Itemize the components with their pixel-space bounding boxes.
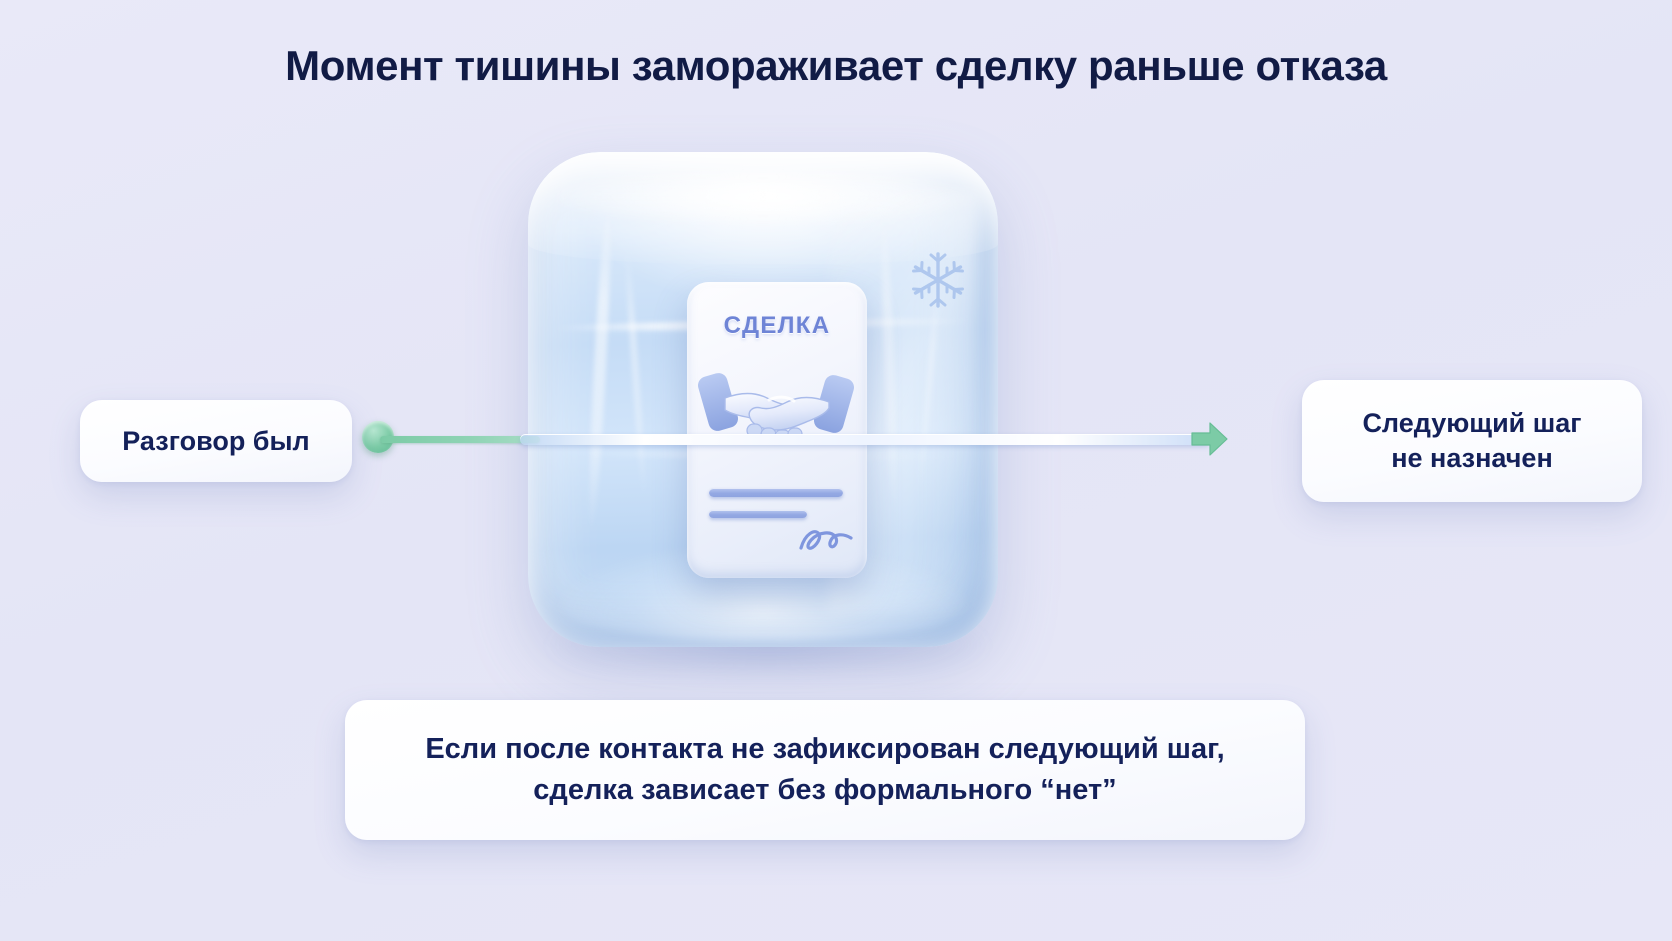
deal-document-icon: СДЕЛКА bbox=[687, 282, 867, 578]
document-text-line bbox=[709, 510, 807, 518]
frozen-line-icon bbox=[520, 434, 1210, 445]
handshake-icon bbox=[697, 348, 857, 468]
right-state-label-line2: не назначен bbox=[1362, 441, 1581, 476]
deal-document-heading: СДЕЛКА bbox=[687, 312, 867, 340]
caption-line1: Если после контакта не зафиксирован след… bbox=[373, 729, 1277, 770]
ice-fracture bbox=[623, 248, 647, 498]
page-title: Момент тишины замораживает сделку раньше… bbox=[0, 42, 1672, 90]
document-text-line bbox=[709, 488, 843, 497]
left-state-card[interactable]: Разговор был bbox=[80, 400, 352, 482]
right-state-label-line1: Следующий шаг bbox=[1362, 406, 1581, 441]
infographic-canvas: Момент тишины замораживает сделку раньше… bbox=[0, 0, 1672, 941]
caption-line2: сделка зависает без формального “нет” bbox=[373, 770, 1277, 811]
signature-icon bbox=[795, 518, 857, 562]
right-state-card[interactable]: Следующий шаг не назначен bbox=[1302, 380, 1642, 502]
snowflake-icon bbox=[906, 248, 970, 312]
flow-connector bbox=[380, 433, 1200, 445]
arrow-right-icon bbox=[1188, 419, 1230, 459]
left-state-label: Разговор был bbox=[122, 426, 309, 457]
caption-card[interactable]: Если после контакта не зафиксирован след… bbox=[345, 700, 1305, 840]
connector-green-segment bbox=[380, 436, 540, 443]
